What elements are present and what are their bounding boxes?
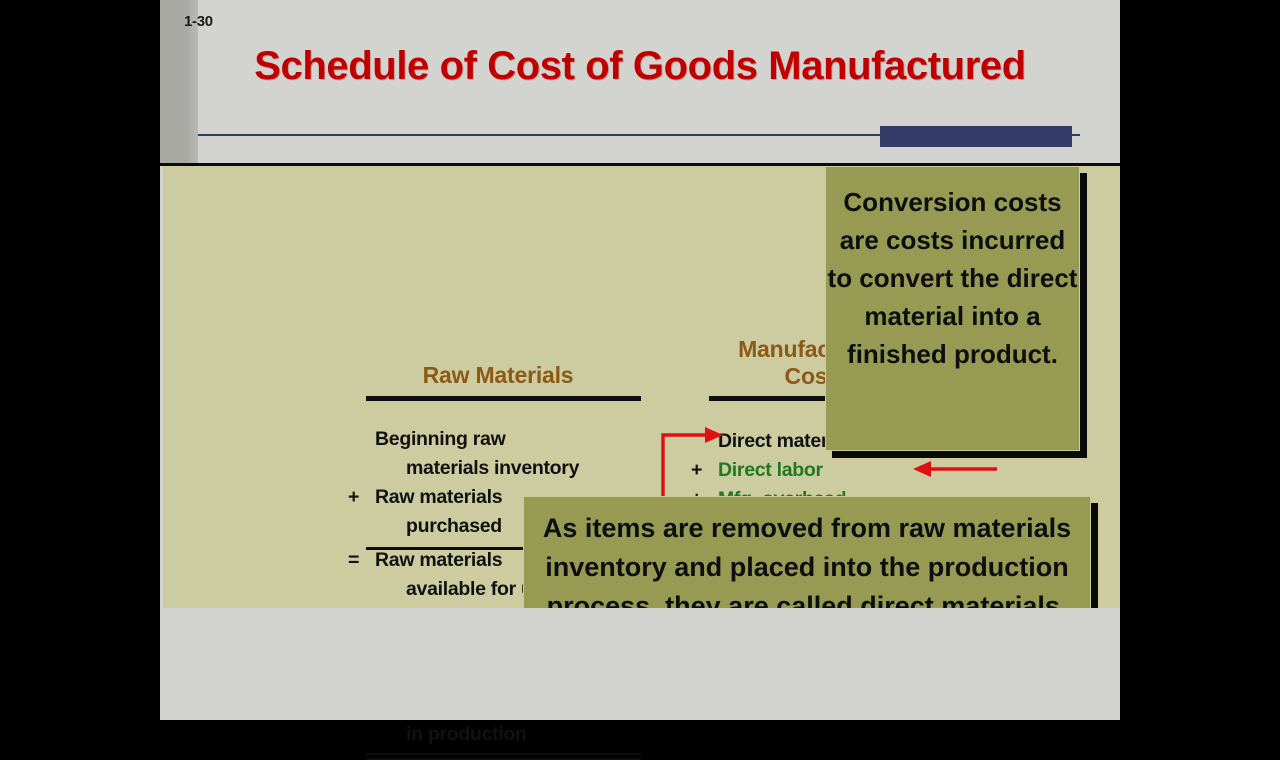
- slide-number: 1-30: [184, 13, 213, 30]
- conversion-costs-pointer-arrow: [913, 460, 997, 478]
- callout-conversion-costs: Conversion costs are costs incurred to c…: [825, 166, 1080, 451]
- row-label: Beginning raw: [375, 428, 505, 451]
- slide-header: 1-30 Schedule of Cost of Goods Manufactu…: [160, 0, 1120, 163]
- row-label: Raw materials: [375, 486, 502, 509]
- header-accent-block: [880, 126, 1072, 147]
- row-label: Direct labor: [718, 459, 823, 482]
- row-label: in production: [406, 723, 527, 746]
- row-label: purchased: [406, 515, 502, 538]
- page-title: Schedule of Cost of Goods Manufactured: [160, 44, 1120, 89]
- total-rule-top: [366, 753, 641, 755]
- row-label: materials inventory: [406, 457, 579, 480]
- column-heading-raw-materials: Raw Materials: [348, 362, 648, 388]
- row-label: Raw materials: [375, 549, 502, 572]
- slide-canvas: 1-30 Schedule of Cost of Goods Manufactu…: [160, 0, 1120, 720]
- slide-footer-area: [160, 608, 1120, 720]
- row-op: +: [348, 486, 359, 509]
- raw-materials-heading-rule: [366, 396, 641, 401]
- row-op: =: [348, 549, 359, 572]
- slide-body: Raw Materials Beginning raw materials in…: [163, 166, 1120, 608]
